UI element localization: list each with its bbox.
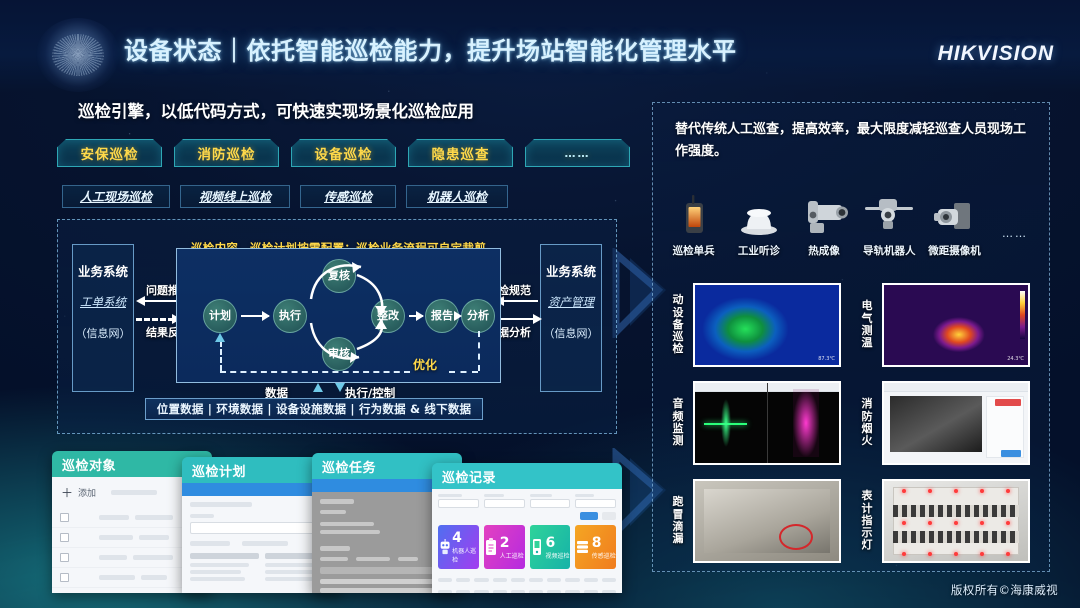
app-screenshots-group: 巡检对象 ＋ 添加 巡检计划 [52, 443, 622, 593]
led [902, 489, 906, 493]
field-label [438, 494, 462, 497]
scenario-cell-meter-led: 表 计 指 示 灯 [852, 477, 1041, 565]
right-panel: 替代传统人工巡查，提高效率，最大限度减轻巡查人员现场工作强度。 巡检单兵 工业听… [652, 102, 1050, 572]
device-label-0: 巡检单兵 [661, 243, 726, 258]
device-thermal-camera: 热成像 [791, 191, 856, 258]
flow-node-analyze: 分析 [461, 299, 495, 333]
task-skeleton [320, 510, 346, 514]
col [565, 578, 579, 582]
stat-card-video-text: 6 视频巡检 [546, 535, 570, 560]
tab-equipment-inspection[interactable]: 设备巡检 [291, 139, 396, 167]
flow-arrow-plan-execute [241, 315, 269, 317]
device-acoustic-sensor: 工业听诊 [726, 191, 791, 258]
stat-card-robot[interactable]: 4 机器人巡检 [438, 525, 479, 569]
scenario-thumb-5[interactable] [882, 479, 1030, 563]
scenario-cell-audio: 音 频 监 测 [663, 379, 852, 467]
led [980, 521, 984, 525]
scenario-thumb-3[interactable] [882, 381, 1030, 465]
flow-optimize-riser [220, 341, 222, 371]
left-system-name: 工单系统 [80, 294, 126, 310]
audio-spike [721, 399, 731, 447]
cell-skeleton [99, 575, 135, 580]
thermal-readout: 24.3℃ [1007, 356, 1024, 362]
col [529, 590, 543, 593]
led [902, 552, 906, 556]
record-table-row[interactable] [432, 586, 622, 593]
field-label [575, 494, 593, 497]
col [565, 590, 579, 593]
col [547, 590, 561, 593]
stat-card-manual-text: 2 人工巡检 [500, 535, 524, 560]
scenario-cell-fire-smoke: 消 防 烟 火 [852, 379, 1041, 467]
col [493, 590, 507, 593]
col-cell [190, 563, 249, 567]
led [1006, 521, 1010, 525]
col [493, 578, 507, 582]
flow-optimize-arrowhead [215, 333, 225, 342]
flow-node-plan-label: 计划 [209, 310, 231, 321]
control-down-arrow [335, 383, 345, 392]
tab-hazard-inspection[interactable]: 隐患巡查 [408, 139, 513, 167]
stat-card-video[interactable]: 6 视频巡检 [530, 525, 571, 569]
robot-icon [438, 537, 452, 557]
reset-button[interactable] [602, 512, 616, 520]
scenario-label-4: 跑 冒 滴 漏 [663, 496, 693, 545]
scenario-thumb-0[interactable]: 87.3℃ [693, 283, 841, 367]
device-row: 巡检单兵 工业听诊 热成像 导轨机器人 微距摄像机 …… [661, 191, 1043, 258]
flow-node-report-label: 报告 [431, 310, 453, 321]
flow-optimize-label: 优化 [413, 356, 437, 373]
col-cell [265, 577, 313, 581]
stat-card-sensor-num: 8 [592, 535, 616, 551]
leak-highlight-circle [779, 524, 813, 550]
radio-option[interactable] [242, 541, 288, 546]
thermal-camera-icon [791, 191, 856, 237]
col [438, 578, 452, 582]
stat-card-sensor[interactable]: 8 传感巡检 [575, 525, 616, 569]
right-business-system: 业务系统 资产管理 （信息网） [540, 244, 602, 392]
stat-card-sensor-label: 传感巡检 [592, 551, 616, 560]
acoustic-sensor-icon [726, 191, 791, 237]
brand-logo: HIKVISION [938, 42, 1054, 66]
col [511, 578, 525, 582]
scenario-label-0: 动 设 备 巡 检 [663, 294, 693, 356]
page-header: 设备状态｜依托智能巡检能力，提升场站智能化管理水平 HIKVISION [0, 0, 1080, 92]
flow-node-analyze-label: 分析 [467, 310, 489, 321]
globe-particle-icon [36, 18, 120, 92]
device-rail-robot: 导轨机器人 [857, 191, 922, 258]
inspection-type-tabs: 安保巡检 消防巡检 设备巡检 隐患巡查 …… [57, 139, 630, 167]
select-input[interactable] [575, 499, 616, 508]
video-feed [890, 396, 982, 452]
breadcrumb-skeleton [190, 502, 252, 507]
subtab-sensor[interactable]: 传感巡检 [300, 185, 396, 208]
col [584, 590, 598, 593]
arrow-analysis-head [533, 314, 542, 324]
screenshot-inspection-record[interactable]: 巡检记录 4 机器人巡检 [432, 463, 622, 593]
device-label-1: 工业听诊 [726, 243, 791, 258]
left-business-system: 业务系统 工单系统 （信息网） [72, 244, 134, 392]
col [456, 590, 470, 593]
cell-skeleton [99, 555, 127, 560]
led [1006, 489, 1010, 493]
scenario-grid: 动 设 备 巡 检 87.3℃ 电 气 测 温 24.3℃ 音 频 监 测 [663, 281, 1041, 575]
col-cell [190, 577, 245, 581]
flow-core-box: 计划 执行 复核 审核 整改 报告 分析 [176, 248, 501, 383]
arrow-feedback-line [136, 318, 174, 321]
device-label-4: 微距摄像机 [922, 243, 987, 258]
tab-fire-inspection[interactable]: 消防巡检 [174, 139, 279, 167]
screenshot-body-record: 4 机器人巡检 2 人工巡检 6 视频巡检 [432, 489, 622, 593]
col [602, 590, 616, 593]
task-skeleton [320, 546, 350, 551]
task-skeleton [320, 499, 354, 504]
field-label-skeleton [190, 514, 214, 518]
filter-field [530, 494, 571, 508]
thermal-color-scale [1020, 291, 1025, 339]
scenario-row-1: 动 设 备 巡 检 87.3℃ 电 气 测 温 24.3℃ [663, 281, 1041, 369]
task-skeleton [320, 522, 374, 526]
col [456, 578, 470, 582]
rail-robot-icon [857, 191, 922, 237]
col-cell [190, 570, 241, 574]
filter-chip[interactable] [398, 557, 418, 561]
led-row-top [891, 489, 1021, 493]
led [1006, 552, 1010, 556]
left-system-title: 业务系统 [78, 261, 128, 280]
field-label [484, 494, 504, 497]
search-button[interactable] [580, 512, 598, 520]
stat-card-robot-num: 4 [452, 530, 479, 546]
led [954, 521, 958, 525]
scenario-cell-leak: 跑 冒 滴 漏 [663, 477, 852, 565]
row-checkbox[interactable] [60, 573, 69, 582]
audio-spectrogram [793, 389, 819, 456]
stat-card-manual-num: 2 [500, 535, 524, 551]
handheld-terminal-icon [661, 191, 726, 237]
cell-skeleton [139, 535, 169, 540]
right-system-net: （信息网） [544, 325, 599, 341]
cell-skeleton [135, 515, 173, 520]
confirm-button[interactable] [1001, 450, 1021, 457]
led [928, 489, 932, 493]
scenario-thumb-2[interactable] [693, 381, 841, 465]
stat-card-robot-text: 4 机器人巡检 [452, 530, 479, 564]
scenario-label-1: 电 气 测 温 [852, 300, 882, 349]
flow-arrow-rectify-report [409, 315, 423, 317]
col [511, 590, 525, 593]
right-system-name: 资产管理 [548, 294, 594, 310]
task-skeleton [320, 530, 380, 534]
stat-card-sensor-text: 8 传感巡检 [592, 535, 616, 560]
left-system-net: （信息网） [76, 325, 131, 341]
led-row-mid [891, 521, 1021, 525]
filter-chip[interactable] [356, 557, 390, 561]
flow-node-plan: 计划 [203, 299, 237, 333]
cell-skeleton [99, 535, 133, 540]
subtab-video-online[interactable]: 视频线上巡检 [180, 185, 290, 208]
data-sources-bar: 位置数据 | 环境数据 | 设备设施数据 | 行为数据 & 线下数据 [145, 398, 483, 420]
col [584, 578, 598, 582]
tab-security-inspection[interactable]: 安保巡检 [57, 139, 162, 167]
record-filter-row-1 [432, 489, 622, 508]
stat-card-video-num: 6 [546, 535, 570, 551]
app-toolbar [884, 383, 1028, 392]
led [928, 521, 932, 525]
server-stack-icon [575, 537, 591, 557]
scenario-row-2: 音 频 监 测 消 防 烟 火 [663, 379, 1041, 467]
col [474, 590, 488, 593]
alarm-button[interactable] [995, 399, 1021, 406]
row-checkbox[interactable] [60, 553, 69, 562]
record-actions [432, 508, 622, 520]
scenario-label-3: 消 防 烟 火 [852, 398, 882, 447]
screenshot-title-record: 巡检记录 [432, 463, 622, 489]
device-macro-camera: 微距摄像机 [922, 191, 987, 258]
copyright-text: 版权所有©海康威视 [951, 582, 1058, 598]
toolbar-skeleton [111, 490, 157, 495]
breaker-row-1 [893, 505, 1020, 517]
stat-card-video-label: 视频巡检 [546, 551, 570, 560]
tab-more[interactable]: …… [525, 139, 630, 167]
flow-optimize-drop [478, 331, 480, 371]
macro-camera-icon [922, 191, 987, 237]
col [474, 578, 488, 582]
col [602, 578, 616, 582]
device-handheld-terminal: 巡检单兵 [661, 191, 726, 258]
record-table-header [432, 574, 622, 586]
led [980, 489, 984, 493]
breaker-row-2 [893, 531, 1020, 543]
flow-optimize-line-left [220, 371, 410, 373]
scenario-label-5: 表 计 指 示 灯 [852, 490, 882, 552]
scenario-row-3: 跑 冒 滴 漏 表 计 指 示 灯 [663, 477, 1041, 565]
arrow-spec-line [500, 300, 538, 302]
add-label: 添加 [78, 486, 96, 499]
device-label-3: 导轨机器人 [857, 243, 922, 258]
cell-skeleton [99, 515, 129, 520]
mobile-device-icon [530, 537, 544, 557]
led [954, 552, 958, 556]
row-checkbox[interactable] [60, 533, 69, 542]
flow-cycle-curves [295, 253, 407, 375]
led [954, 489, 958, 493]
select-input[interactable] [484, 499, 525, 508]
right-system-title: 业务系统 [546, 261, 596, 280]
led [980, 552, 984, 556]
audio-divider [767, 383, 768, 463]
scenario-label-2: 音 频 监 测 [663, 398, 693, 447]
device-ellipsis: …… [987, 227, 1043, 258]
col-cell [265, 563, 319, 567]
cell-skeleton [133, 555, 173, 560]
filter-field [575, 494, 616, 508]
scenario-thumb-1[interactable]: 24.3℃ [882, 283, 1030, 367]
scenario-cell-electrical-temp: 电 气 测 温 24.3℃ [852, 281, 1041, 369]
col [438, 590, 452, 593]
stat-card-manual-label: 人工巡检 [500, 551, 524, 560]
select-input[interactable] [530, 499, 571, 508]
row-checkbox[interactable] [60, 513, 69, 522]
col [529, 578, 543, 582]
select-input[interactable] [438, 499, 479, 508]
scenario-thumb-4[interactable] [693, 479, 841, 563]
scenario-cell-rotating-equipment: 动 设 备 巡 检 87.3℃ [663, 281, 852, 369]
pipe-photo [704, 489, 831, 553]
flow-optimize-line-right [449, 371, 478, 373]
col-header [190, 553, 259, 559]
section-subtitle: 巡检引擎，以低代码方式，可快速实现场景化巡检应用 [78, 98, 474, 122]
stat-card-robot-label: 机器人巡检 [452, 546, 479, 564]
page-title: 设备状态｜依托智能巡检能力，提升场站智能化管理水平 [124, 31, 737, 66]
led [928, 552, 932, 556]
stat-card-manual[interactable]: 2 人工巡检 [484, 525, 525, 569]
data-up-arrow [313, 383, 323, 392]
subtab-manual-onsite[interactable]: 人工现场巡检 [62, 185, 170, 208]
col [547, 578, 561, 582]
subtab-robot[interactable]: 机器人巡检 [406, 185, 508, 208]
arrow-push-head [136, 296, 145, 306]
stat-cards: 4 机器人巡检 2 人工巡检 6 视频巡检 [432, 520, 622, 574]
plus-icon: ＋ [61, 484, 73, 501]
filter-field [484, 494, 525, 508]
field-label [530, 494, 552, 497]
plan-col-left [190, 553, 259, 581]
led-row-bottom [891, 552, 1021, 556]
thermal-readout: 87.3℃ [818, 356, 835, 362]
right-panel-lead-text: 替代传统人工巡查，提高效率，最大限度减轻巡查人员现场工作强度。 [675, 119, 1027, 163]
inspection-method-tabs: 人工现场巡检 视频线上巡检 传感巡检 机器人巡检 [62, 185, 508, 208]
device-label-2: 热成像 [791, 243, 856, 258]
clipboard-icon [484, 537, 498, 557]
filter-chip[interactable] [320, 557, 348, 561]
filter-field [438, 494, 479, 508]
cell-skeleton [141, 575, 167, 580]
radio-option[interactable] [190, 541, 230, 546]
led [902, 521, 906, 525]
